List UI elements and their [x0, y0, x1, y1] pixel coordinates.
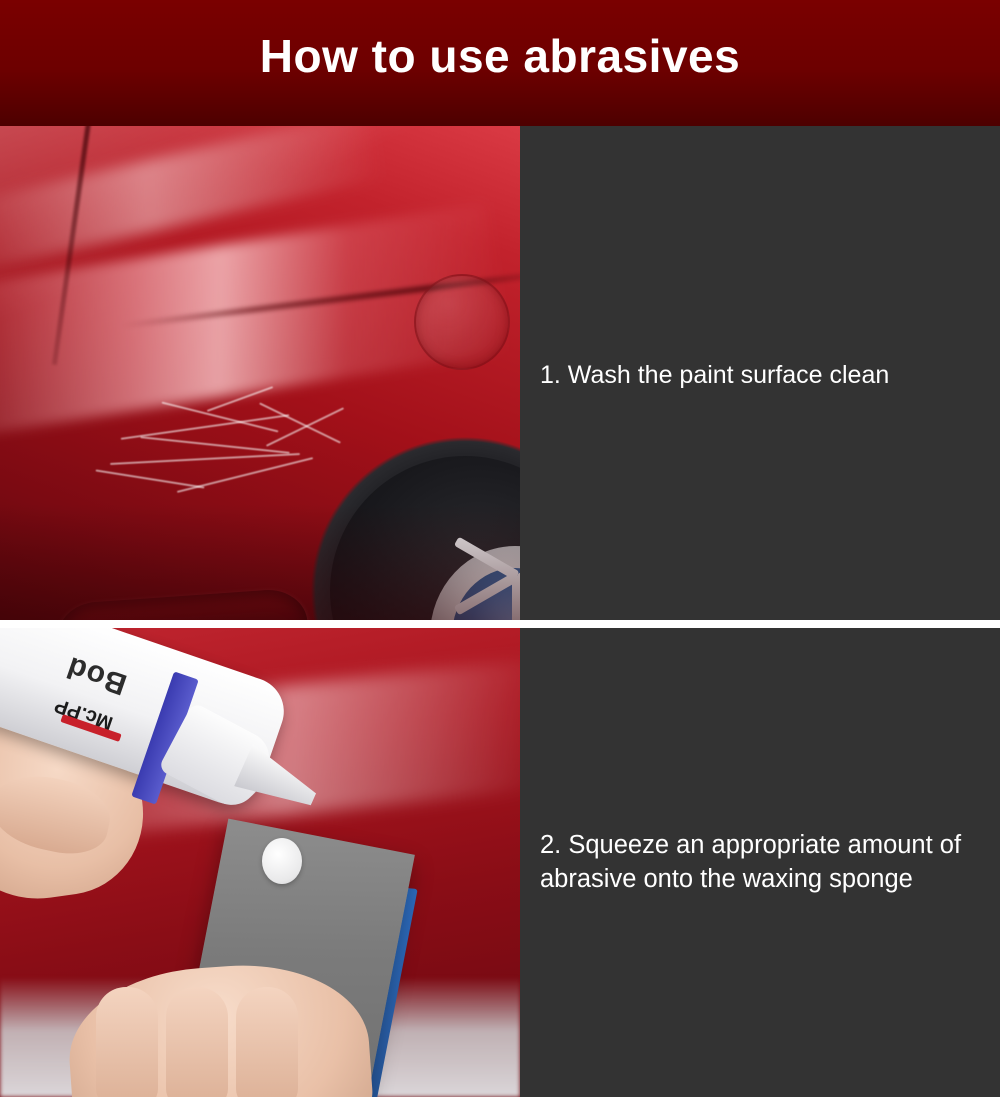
finger: [166, 987, 228, 1097]
infographic-page: How to use abrasives: [0, 0, 1000, 1097]
abrasive-dollop: [262, 838, 302, 884]
step-2-caption: 2. Squeeze an appropriate amount of abra…: [520, 829, 1000, 896]
step-1-caption-panel: 1. Wash the paint surface clean: [520, 126, 1000, 624]
page-title: How to use abrasives: [260, 33, 740, 79]
step-row-1: 1. Wash the paint surface clean: [0, 126, 1000, 624]
row-divider: [0, 620, 1000, 628]
step-1-photo: [0, 126, 520, 624]
fuel-cap: [414, 274, 510, 370]
lower-shadow: [0, 504, 520, 624]
step-2-photo: Bod Mc.PP: [0, 628, 520, 1097]
step-1-caption: 1. Wash the paint surface clean: [520, 359, 897, 392]
finger: [96, 987, 158, 1097]
header-banner: How to use abrasives: [0, 0, 1000, 126]
finger: [236, 987, 298, 1097]
step-2-caption-panel: 2. Squeeze an appropriate amount of abra…: [520, 628, 1000, 1097]
step-row-2: Bod Mc.PP 2. Squeeze an appropriate amou…: [0, 628, 1000, 1097]
